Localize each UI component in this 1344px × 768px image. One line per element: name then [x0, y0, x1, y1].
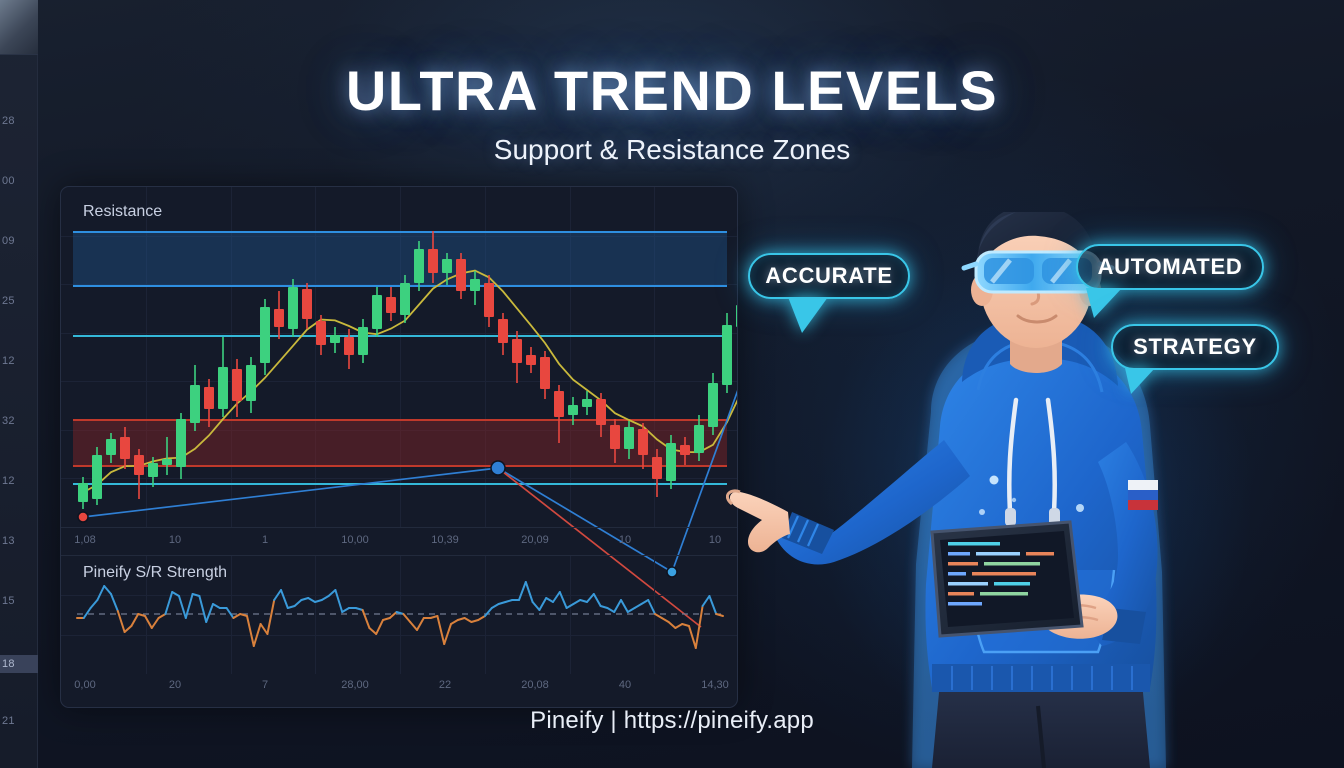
price-axis-tick: 32 — [0, 415, 38, 427]
sidebar-thumbnail — [0, 0, 38, 55]
candle — [204, 387, 214, 409]
price-axis-tick: 28 — [0, 115, 38, 127]
candle — [92, 455, 102, 499]
candle — [106, 439, 116, 455]
bubble-tail-icon — [788, 297, 828, 333]
candle — [638, 429, 648, 455]
poster-canvas: 2800092512321213151821 ULTRA TREND LEVEL… — [0, 0, 1344, 768]
chart-card[interactable]: Resistance 1,0810110,0010,3920,091010 Pi… — [60, 186, 738, 708]
bubble-strategy: STRATEGY — [1111, 324, 1279, 370]
price-x-axis: 1,0810110,0010,3920,091010 — [61, 527, 738, 555]
axis-tick-label: 1 — [262, 534, 268, 546]
candle — [120, 437, 130, 459]
candle — [386, 297, 396, 313]
candle — [582, 399, 592, 407]
candle — [148, 463, 158, 477]
candle — [316, 321, 326, 345]
price-chart-panel[interactable]: Resistance — [61, 187, 738, 527]
price-axis-tick: 09 — [0, 235, 38, 247]
candle — [596, 399, 606, 425]
price-axis-tick: 12 — [0, 355, 38, 367]
bubble-strategy-label: STRATEGY — [1133, 334, 1257, 360]
price-axis-tick: 12 — [0, 475, 38, 487]
axis-tick-label: 1,08 — [74, 534, 95, 546]
candle — [190, 385, 200, 423]
candle — [498, 319, 508, 343]
axis-tick-label: 10 — [169, 534, 181, 546]
candle — [526, 355, 536, 365]
bubble-tail-icon — [1125, 368, 1155, 394]
axis-tick-label: 14,30 — [701, 679, 729, 691]
candle — [708, 383, 718, 427]
candle — [134, 455, 144, 475]
candle — [610, 425, 620, 449]
axis-tick-label: 0,00 — [74, 679, 95, 691]
axis-tick-label: 10,00 — [341, 534, 369, 546]
oscillator-x-axis: 0,0020728,002220,084014,30 — [61, 673, 738, 707]
page-title: ULTRA TREND LEVELS — [0, 58, 1344, 123]
axis-tick-label: 28,00 — [341, 679, 369, 691]
flag-patch-icon — [1128, 480, 1158, 510]
price-axis-tick: 15 — [0, 595, 38, 607]
oscillator-title: Pineify S/R Strength — [83, 564, 227, 582]
pivot-high-marker — [491, 461, 505, 475]
candle — [400, 283, 410, 315]
price-axis-tick: 00 — [0, 175, 38, 187]
left-price-axis-strip: 2800092512321213151821 — [0, 0, 38, 768]
character-pants — [932, 682, 1150, 768]
candle — [330, 335, 340, 343]
bubble-tail-icon — [1086, 288, 1122, 318]
trend-line — [83, 468, 498, 517]
axis-tick-label: 20 — [169, 679, 181, 691]
candle — [456, 259, 466, 291]
candle — [442, 259, 452, 273]
candle — [344, 337, 354, 355]
candle — [428, 249, 438, 273]
candle — [666, 443, 676, 481]
pivot-low-marker — [78, 512, 88, 522]
candle — [260, 307, 270, 363]
price-axis-tick: 21 — [0, 715, 38, 727]
candle — [372, 295, 382, 329]
axis-tick-label: 10 — [619, 534, 631, 546]
axis-tick-label: 10,39 — [431, 534, 459, 546]
price-axis-tick: 18 — [0, 655, 38, 673]
resistance-label: Resistance — [83, 203, 162, 221]
axis-tick-label: 7 — [262, 679, 268, 691]
candle — [554, 391, 564, 417]
candle — [694, 425, 704, 453]
candle — [162, 459, 172, 465]
axis-tick-label: 20,08 — [521, 679, 549, 691]
bubble-automated-label: AUTOMATED — [1098, 254, 1243, 280]
candle — [288, 287, 298, 329]
candle — [624, 427, 634, 449]
page-subtitle: Support & Resistance Zones — [0, 134, 1344, 166]
bubble-automated: AUTOMATED — [1076, 244, 1264, 290]
axis-tick-label: 10 — [709, 534, 721, 546]
candle — [78, 483, 88, 502]
axis-tick-label: 20,09 — [521, 534, 549, 546]
candle — [540, 357, 550, 389]
candle — [470, 279, 480, 291]
bubble-accurate: ACCURATE — [748, 253, 910, 299]
oscillator-panel[interactable]: Pineify S/R Strength — [61, 555, 738, 673]
axis-tick-label: 40 — [619, 679, 631, 691]
candle — [484, 283, 494, 317]
candle — [568, 405, 578, 415]
price-axis-tick: 13 — [0, 535, 38, 547]
candle — [512, 339, 522, 363]
candle — [176, 419, 186, 467]
candle — [274, 309, 284, 327]
candlestick-series — [61, 187, 738, 527]
bubble-accurate-label: ACCURATE — [765, 263, 892, 289]
candle — [414, 249, 424, 283]
price-axis-tick: 25 — [0, 295, 38, 307]
candle — [302, 289, 312, 319]
tablet-device — [932, 522, 1082, 636]
candle — [652, 457, 662, 479]
axis-tick-label: 22 — [439, 679, 451, 691]
candle — [358, 327, 368, 355]
candle — [218, 367, 228, 409]
candle — [232, 369, 242, 401]
candle — [246, 365, 256, 401]
candle — [680, 445, 690, 455]
